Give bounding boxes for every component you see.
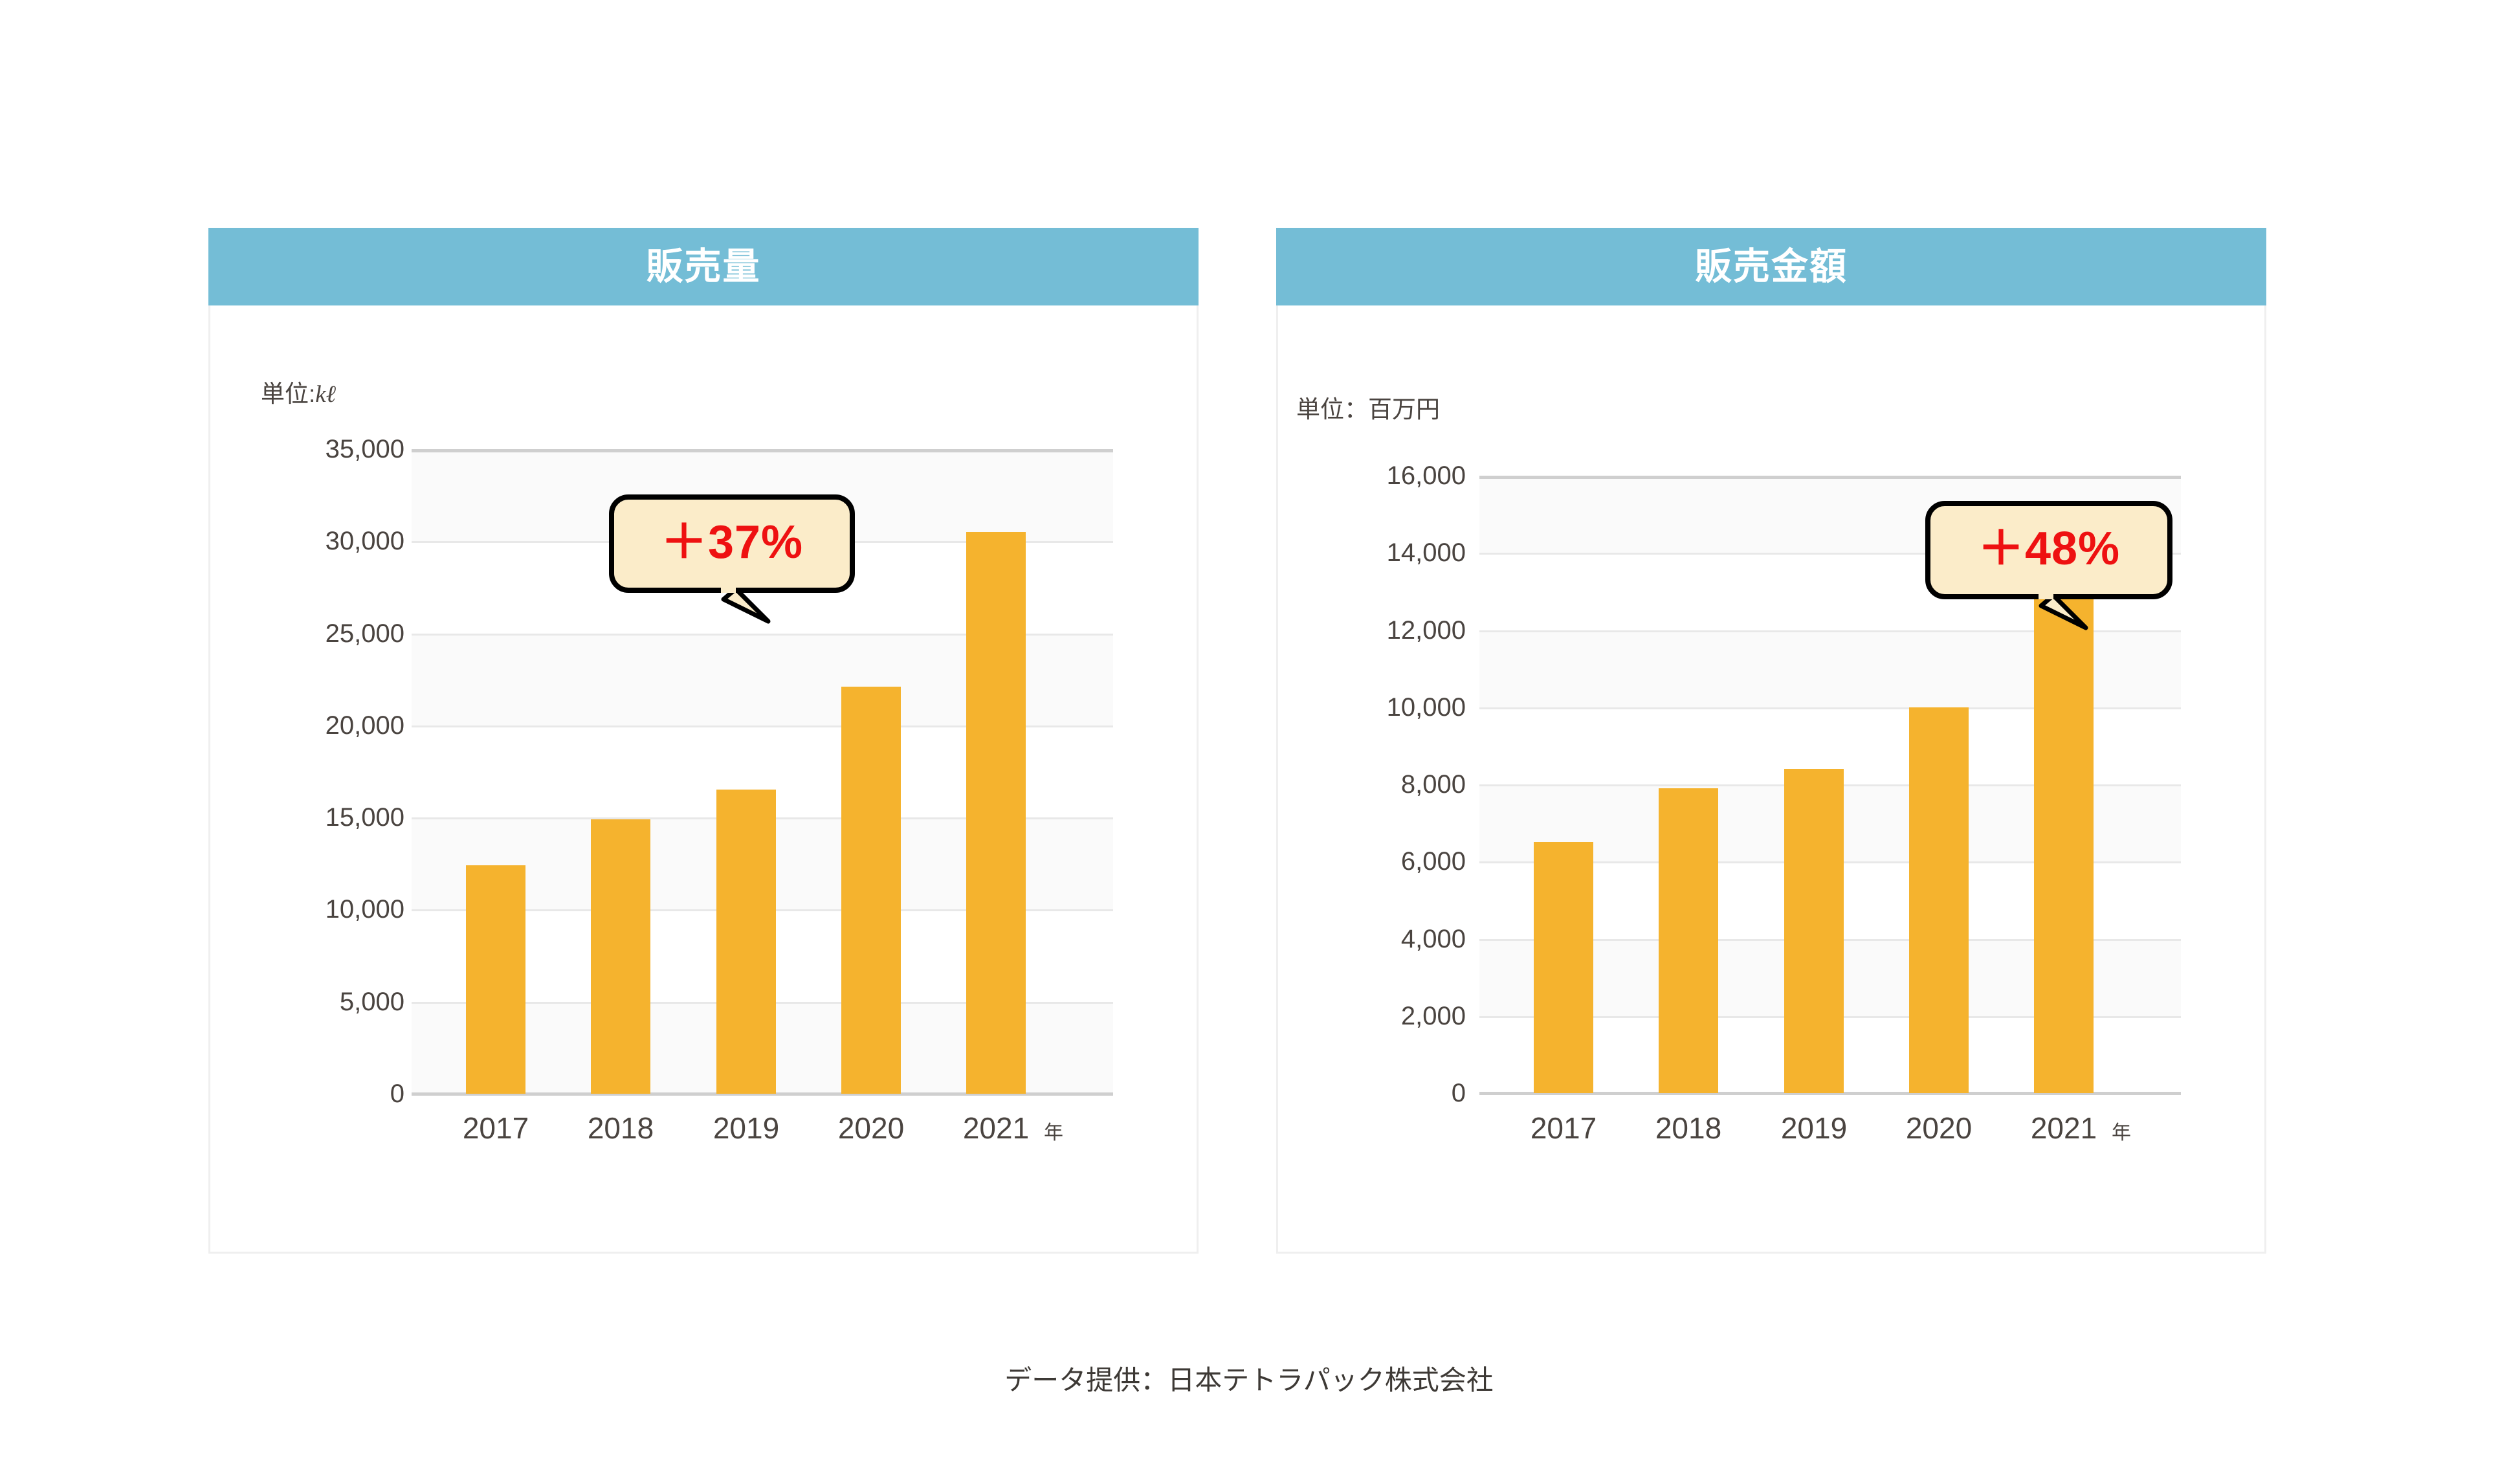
x-axis-unit-label: 年 (2112, 1124, 2131, 1143)
y-tick-label: 16,000 (1336, 463, 1466, 489)
x-tick-label-2018: 2018 (1655, 1113, 1721, 1143)
unit-prefix: 単位： (1296, 396, 1368, 423)
x-tick-label-2019: 2019 (713, 1113, 779, 1143)
chart-card-sales-amount: 販売金額 単位：百万円 16,000 14,000 12,000 10,000 … (1276, 228, 2266, 1254)
bar-2017 (466, 865, 525, 1094)
y-tick-label: 5,000 (301, 989, 404, 1015)
y-tick-label: 6,000 (1336, 848, 1466, 874)
unit-label-sales-volume: 単位:kℓ (261, 382, 336, 406)
data-credit: データ提供：日本テトラパック株式会社 (0, 1367, 2498, 1394)
y-tick-label: 14,000 (1336, 540, 1466, 566)
x-tick-label-2021: 2021 (2031, 1113, 2097, 1143)
y-tick-label: 8,000 (1336, 771, 1466, 797)
gridline (1479, 476, 2181, 479)
y-axis-sales-amount: 16,000 14,000 12,000 10,000 8,000 6,000 … (1336, 476, 1466, 1093)
chart-title-sales-amount: 販売金額 (1695, 249, 1848, 285)
x-tick-label-2021: 2021 (963, 1113, 1029, 1143)
x-tick-label-2020: 2020 (1906, 1113, 1972, 1143)
y-tick-label: 20,000 (301, 713, 404, 738)
y-tick-label: 10,000 (301, 896, 404, 922)
y-tick-label: 0 (301, 1081, 404, 1107)
y-axis-sales-volume: 35,000 30,000 25,000 20,000 15,000 10,00… (301, 449, 404, 1094)
bar-2021 (966, 532, 1026, 1094)
y-tick-label: 15,000 (301, 804, 404, 830)
x-axis-unit-label: 年 (1044, 1124, 1063, 1143)
x-tick-label-2017: 2017 (463, 1113, 529, 1143)
unit-value: 百万円 (1368, 396, 1440, 423)
x-tick-label-2017: 2017 (1531, 1113, 1597, 1143)
y-tick-label: 2,000 (1336, 1003, 1466, 1029)
unit-prefix: 単位: (261, 381, 315, 407)
y-tick-label: 0 (1336, 1080, 1466, 1106)
x-tick-label-2019: 2019 (1781, 1113, 1847, 1143)
y-tick-label: 10,000 (1336, 694, 1466, 720)
unit-value: kℓ (315, 381, 336, 408)
chart-title-sales-volume: 販売量 (647, 249, 761, 285)
chart-banner-sales-amount: 販売金額 (1276, 228, 2266, 305)
bar-2017 (1534, 842, 1593, 1093)
callout-bubble-48-percent: ＋48% (1925, 501, 2172, 663)
bar-2018 (1659, 788, 1718, 1093)
y-tick-label: 4,000 (1336, 926, 1466, 952)
gridline (412, 449, 1113, 452)
bar-2020 (1909, 707, 1969, 1093)
unit-label-sales-amount: 単位：百万円 (1296, 397, 1440, 421)
infographic-page: 販売量 単位:kℓ 35,000 30,000 25,000 20,000 15… (0, 0, 2498, 1484)
y-tick-label: 25,000 (301, 621, 404, 647)
bar-2019 (716, 790, 776, 1094)
chart-banner-sales-volume: 販売量 (208, 228, 1199, 305)
chart-card-sales-volume: 販売量 単位:kℓ 35,000 30,000 25,000 20,000 15… (208, 228, 1199, 1254)
y-tick-label: 30,000 (301, 528, 404, 554)
y-tick-label: 35,000 (301, 436, 404, 462)
x-tick-label-2018: 2018 (588, 1113, 654, 1143)
callout-bubble-37-percent: ＋37% (609, 494, 855, 656)
x-tick-label-2020: 2020 (838, 1113, 904, 1143)
bar-2018 (591, 819, 650, 1094)
bar-2020 (841, 687, 901, 1094)
bar-2019 (1784, 769, 1844, 1093)
y-tick-label: 12,000 (1336, 617, 1466, 643)
